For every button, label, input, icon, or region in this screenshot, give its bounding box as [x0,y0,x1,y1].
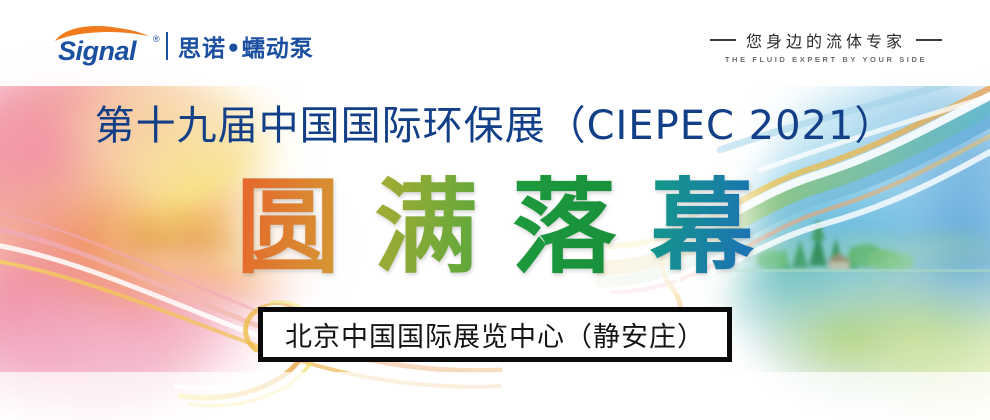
event-banner: Signal ® 思诺•蠕动泵 您身边的流体专家 THE FLUID EXPER… [0,0,990,420]
footer-veil [0,372,990,420]
tagline-english: THE FLUID EXPERT BY YOUR SIDE [710,55,942,64]
headline-char-3: 落 [512,175,616,279]
signal-logomark: Signal ® [52,24,160,68]
logo-wordmark: Signal [58,36,136,67]
headline-char-2: 满 [374,175,478,279]
banner-header: Signal ® 思诺•蠕动泵 您身边的流体专家 THE FLUID EXPER… [0,0,990,88]
brand-logo: Signal ® 思诺•蠕动泵 [52,24,314,68]
tagline-rule-right [916,39,942,41]
tagline-rule-left [710,39,736,41]
logo-divider [166,32,168,60]
venue-box: 北京中国国际展览中心（静安庄） [258,307,732,362]
brand-tagline: 您身边的流体专家 THE FLUID EXPERT BY YOUR SIDE [710,28,942,64]
event-title: 第十九届中国国际环保展（CIEPEC 2021） [0,104,990,148]
tagline-chinese: 您身边的流体专家 [746,28,906,52]
headline-char-1: 圆 [236,175,340,279]
registered-mark-icon: ® [153,34,160,44]
tagline-row: 您身边的流体专家 [710,28,942,52]
logo-chinese-name: 思诺•蠕动泵 [178,29,314,63]
venue-text: 北京中国国际展览中心（静安庄） [285,315,705,354]
headline-characters: 圆 满 落 幕 [0,168,990,286]
headline-char-4: 幕 [650,175,754,279]
